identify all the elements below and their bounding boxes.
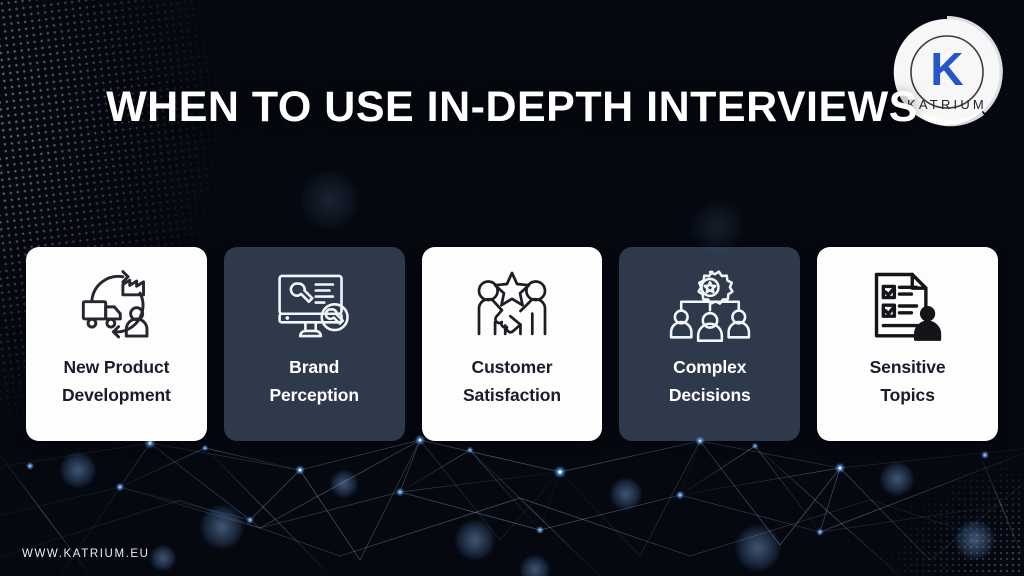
card-row: New Product Development [26, 247, 998, 441]
page-title: WHEN TO USE IN-DEPTH INTERVIEWS [0, 78, 1024, 136]
monitor-wrench-icon [271, 263, 357, 349]
card-label: Sensitive Topics [864, 353, 952, 410]
card-label-line2: Satisfaction [463, 385, 561, 405]
card-label-line2: Topics [880, 385, 935, 405]
card-sensitive-topics[interactable]: Sensitive Topics [817, 247, 998, 441]
supply-chain-cycle-icon [73, 263, 159, 349]
card-customer-satisfaction[interactable]: Customer Satisfaction [422, 247, 603, 441]
card-label: Customer Satisfaction [457, 353, 567, 410]
card-label-line1: Customer [472, 357, 553, 377]
card-label-line2: Perception [269, 385, 358, 405]
card-label: Complex Decisions [663, 353, 757, 410]
card-new-product-development[interactable]: New Product Development [26, 247, 207, 441]
handshake-star-icon [468, 263, 556, 349]
card-label-line1: Complex [673, 357, 746, 377]
card-label-line2: Decisions [669, 385, 751, 405]
card-label-line2: Development [62, 385, 171, 405]
card-label: New Product Development [56, 353, 177, 410]
footer-url: WWW.KATRIUM.EU [22, 548, 150, 560]
checklist-person-icon [868, 263, 948, 349]
card-label-line1: Brand [289, 357, 339, 377]
infographic-canvas: K KATRIUM WHEN TO USE IN-DEPTH INTERVIEW… [0, 0, 1024, 576]
gear-org-chart-icon [666, 263, 754, 349]
card-label-line1: New Product [63, 357, 169, 377]
card-label: Brand Perception [263, 353, 364, 410]
card-complex-decisions[interactable]: Complex Decisions [619, 247, 800, 441]
card-label-line1: Sensitive [870, 357, 946, 377]
card-brand-perception[interactable]: Brand Perception [224, 247, 405, 441]
